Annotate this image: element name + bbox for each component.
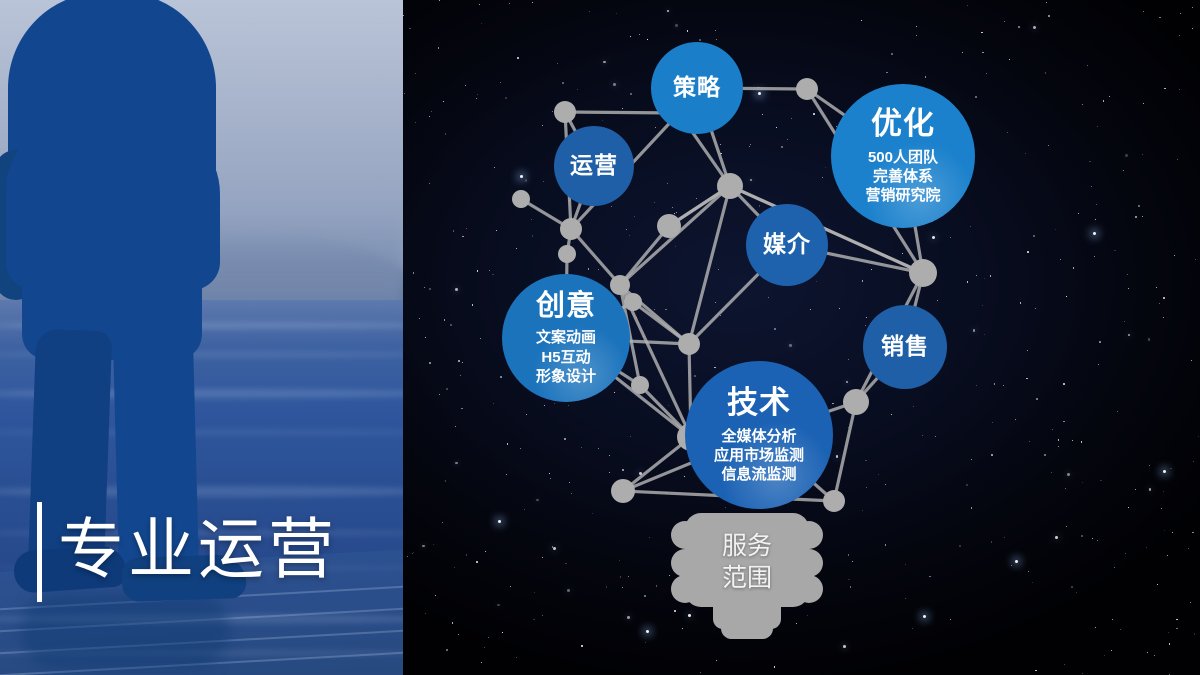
slide-root: 专业运营 策略运营优化500人团队完善体系营销研究院媒介创意文案动画H5互动形象… (0, 0, 1200, 675)
bubble-subtitle-line: 完善体系 (865, 167, 940, 186)
bubble-optimization[interactable]: 优化500人团队完善体系营销研究院 (831, 84, 975, 228)
network-node[interactable] (796, 78, 818, 100)
bulb-base-tip (721, 625, 773, 639)
bubble-title: 媒介 (763, 232, 811, 258)
network-node[interactable] (717, 173, 743, 199)
bubble-subtitle-line: 营销研究院 (865, 186, 940, 205)
bubble-creative[interactable]: 创意文案动画H5互动形象设计 (502, 274, 630, 402)
service-scope-shape[interactable]: 服务 范围 (685, 513, 809, 645)
bubble-operation[interactable]: 运营 (554, 126, 634, 206)
network-node[interactable] (558, 245, 576, 263)
service-scope-line1: 服务 (685, 531, 809, 562)
network-node[interactable] (678, 333, 700, 355)
bubble-sales[interactable]: 销售 (863, 305, 947, 389)
bubble-title: 优化 (871, 107, 935, 142)
page-title: 专业运营 (58, 485, 338, 617)
network-node[interactable] (610, 275, 630, 295)
bubble-subtitle-line: 信息流监测 (714, 465, 804, 484)
bubble-media[interactable]: 媒介 (746, 204, 828, 286)
bubble-subtitle: 全媒体分析应用市场监测信息流监测 (714, 427, 804, 485)
bubble-subtitle-line: 500人团队 (865, 148, 940, 167)
network-diagram-panel: 策略运营优化500人团队完善体系营销研究院媒介创意文案动画H5互动形象设计销售技… (403, 0, 1200, 675)
photo-panel: 专业运营 (0, 0, 403, 675)
bubble-subtitle-line: H5互动 (536, 348, 596, 367)
bubble-technology[interactable]: 技术全媒体分析应用市场监测信息流监测 (685, 361, 833, 509)
network-node[interactable] (554, 101, 576, 123)
bubble-title: 技术 (727, 386, 791, 421)
network-node[interactable] (512, 190, 530, 208)
bubble-subtitle-line: 文案动画 (536, 328, 596, 347)
bubble-strategy[interactable]: 策略 (651, 42, 743, 134)
network-node[interactable] (631, 376, 649, 394)
bubble-subtitle-line: 形象设计 (536, 367, 596, 386)
bubble-subtitle: 500人团队完善体系营销研究院 (865, 148, 940, 206)
bubble-title: 创意 (536, 290, 596, 322)
network-node[interactable] (823, 490, 845, 512)
network-node[interactable] (657, 214, 681, 238)
bubble-title: 运营 (570, 153, 618, 179)
network-node[interactable] (909, 259, 937, 287)
network-node[interactable] (624, 293, 642, 311)
bubble-subtitle-line: 全媒体分析 (714, 427, 804, 446)
title-accent-bar (37, 502, 42, 602)
bubble-subtitle: 文案动画H5互动形象设计 (536, 328, 596, 386)
network-node[interactable] (843, 389, 869, 415)
network-node[interactable] (611, 479, 635, 503)
bubble-subtitle-line: 应用市场监测 (714, 446, 804, 465)
service-scope-line2: 范围 (685, 563, 809, 594)
title-block: 专业运营 (0, 485, 403, 675)
bubble-title: 销售 (881, 334, 929, 360)
bubble-title: 策略 (673, 75, 721, 101)
network-node[interactable] (560, 218, 582, 240)
